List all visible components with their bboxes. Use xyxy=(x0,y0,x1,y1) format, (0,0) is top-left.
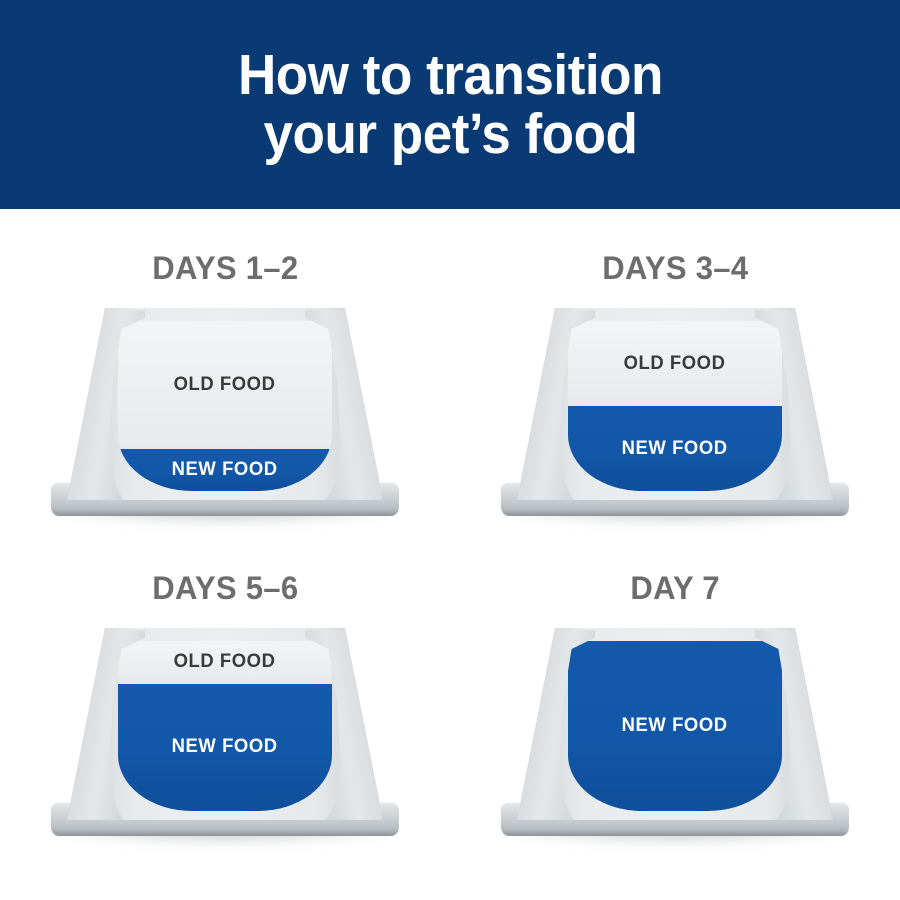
bowl-food-well: OLD FOOD NEW FOOD xyxy=(568,321,782,491)
page-title: How to transition your pet’s food xyxy=(238,46,663,163)
old-food-label: OLD FOOD xyxy=(174,651,276,673)
new-food-portion: NEW FOOD xyxy=(568,641,782,811)
transition-step-card: DAYS 3–4 OLD FOOD NEW FOOD xyxy=(450,209,900,529)
bowl-food-well: OLD FOOD NEW FOOD xyxy=(118,321,332,491)
old-food-portion: OLD FOOD xyxy=(118,321,332,449)
new-food-label: NEW FOOD xyxy=(622,715,728,737)
new-food-portion: NEW FOOD xyxy=(118,684,332,812)
old-food-label: OLD FOOD xyxy=(174,374,276,396)
new-food-label: NEW FOOD xyxy=(172,459,278,481)
bowl-food-well: OLD FOOD NEW FOOD xyxy=(118,641,332,811)
transition-step-card: DAYS 1–2 OLD FOOD NEW FOOD xyxy=(0,209,450,529)
old-food-label: OLD FOOD xyxy=(624,353,726,375)
old-food-portion: OLD FOOD xyxy=(568,321,782,406)
transition-steps-grid: DAYS 1–2 OLD FOOD NEW FOOD DAYS 3–4 xyxy=(0,209,900,900)
food-bowl: NEW FOOD xyxy=(495,628,855,848)
bowl-food-well: NEW FOOD xyxy=(568,641,782,811)
new-food-portion: NEW FOOD xyxy=(118,449,332,492)
new-food-portion: NEW FOOD xyxy=(568,406,782,491)
transition-step-card: DAYS 5–6 OLD FOOD NEW FOOD xyxy=(0,529,450,849)
food-bowl: OLD FOOD NEW FOOD xyxy=(45,308,405,528)
step-label: DAYS 1–2 xyxy=(152,250,298,287)
food-bowl: OLD FOOD NEW FOOD xyxy=(45,628,405,848)
step-label: DAY 7 xyxy=(630,570,719,607)
transition-step-card: DAY 7 NEW FOOD xyxy=(450,529,900,849)
step-label: DAYS 3–4 xyxy=(602,250,748,287)
step-label: DAYS 5–6 xyxy=(152,570,298,607)
food-bowl: OLD FOOD NEW FOOD xyxy=(495,308,855,528)
new-food-label: NEW FOOD xyxy=(622,438,728,460)
header-banner: How to transition your pet’s food xyxy=(0,0,900,209)
new-food-label: NEW FOOD xyxy=(172,736,278,758)
old-food-portion: OLD FOOD xyxy=(118,641,332,684)
